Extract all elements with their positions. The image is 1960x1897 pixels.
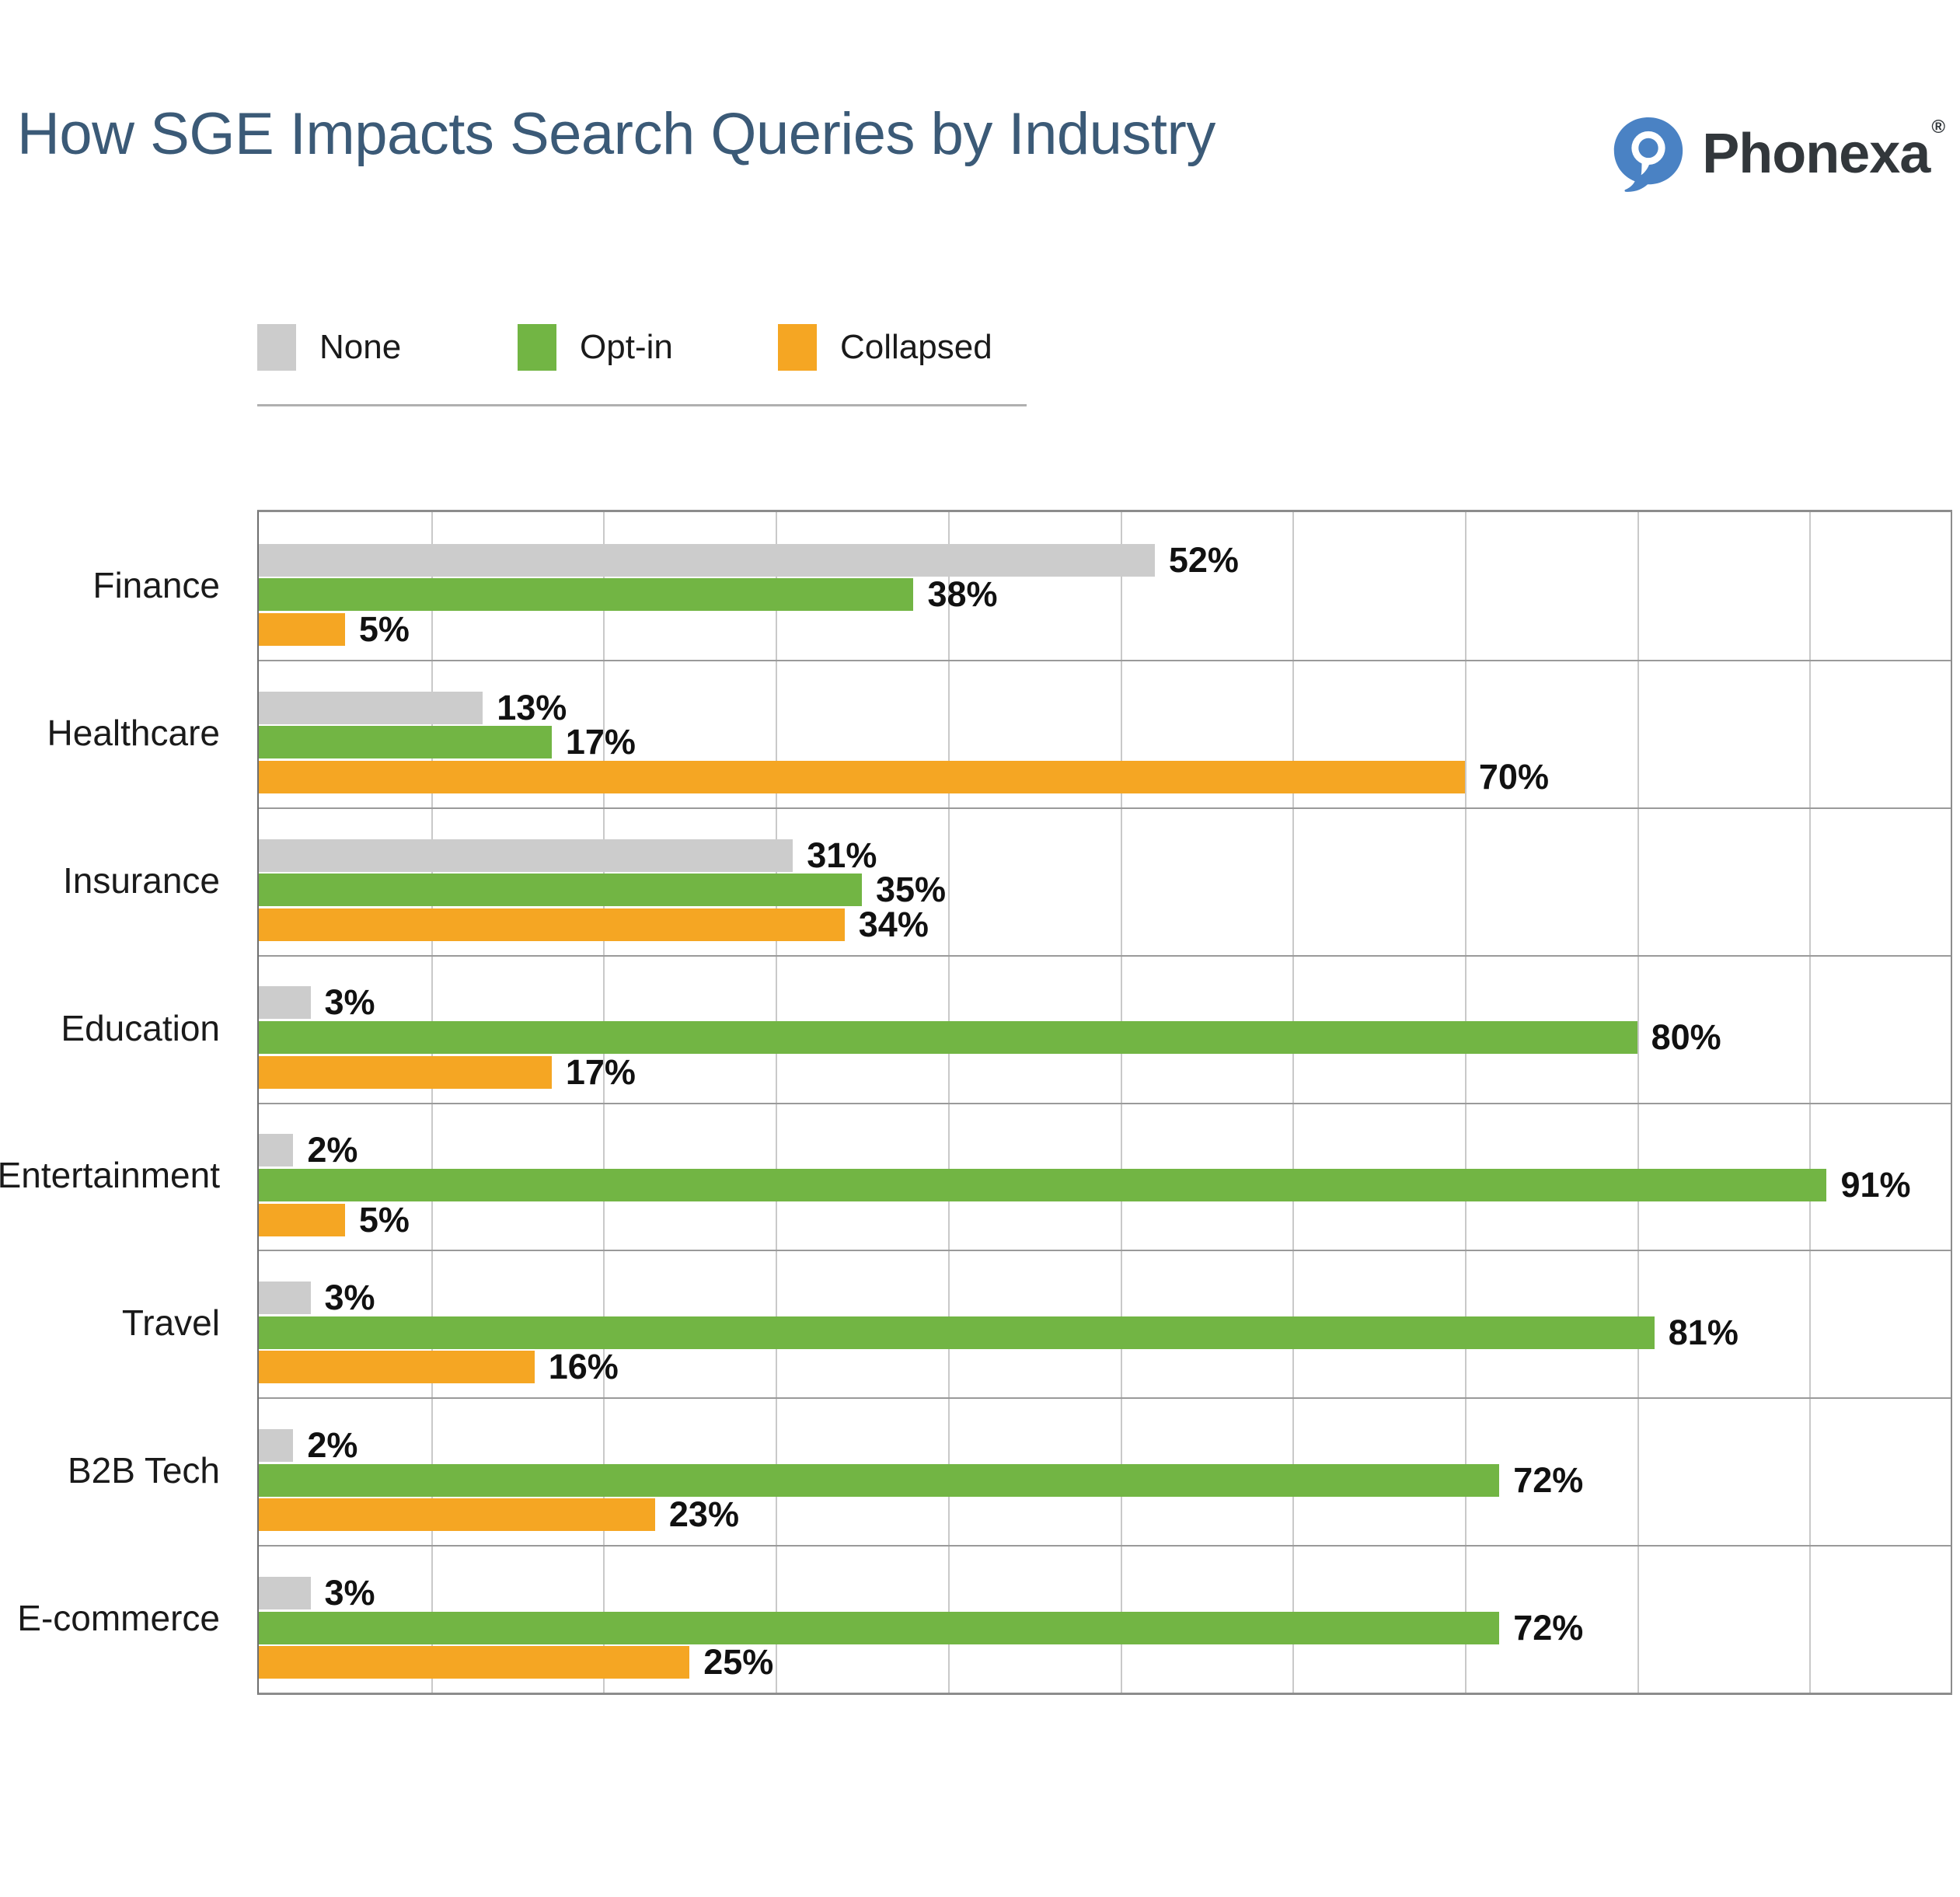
bar-collapsed[interactable] <box>259 761 1465 793</box>
legend-swatch-opt-in <box>518 324 556 371</box>
bar-none[interactable] <box>259 839 793 872</box>
legend-item-none[interactable]: None <box>257 319 401 376</box>
bar-opt-in[interactable] <box>259 874 862 906</box>
bar-value-label: 52% <box>1169 540 1239 581</box>
bar-none[interactable] <box>259 1282 311 1314</box>
bar-group: Travel3%81%16% <box>259 1250 1951 1397</box>
page-title: How SGE Impacts Search Queries by Indust… <box>17 101 1215 168</box>
y-axis-category-label: Insurance <box>63 860 220 901</box>
bar-value-label: 72% <box>1513 1608 1583 1648</box>
bar-collapsed[interactable] <box>259 613 345 646</box>
bar-group: E-commerce3%72%25% <box>259 1545 1951 1693</box>
bar-collapsed[interactable] <box>259 908 845 941</box>
bar-row: 91% <box>259 1169 1951 1201</box>
bar-opt-in[interactable] <box>259 1612 1499 1644</box>
bar-value-label: 31% <box>807 835 877 876</box>
bar-value-label: 34% <box>859 905 929 945</box>
bar-group: B2B Tech2%72%23% <box>259 1397 1951 1545</box>
bar-opt-in[interactable] <box>259 1021 1637 1054</box>
bar-row: 3% <box>259 1577 1951 1609</box>
bar-value-label: 81% <box>1669 1313 1739 1353</box>
bar-value-label: 5% <box>359 609 410 650</box>
bar-value-label: 38% <box>927 574 997 615</box>
bar-none[interactable] <box>259 1429 293 1462</box>
bar-value-label: 80% <box>1651 1017 1721 1058</box>
y-axis-category-label: E-commerce <box>17 1597 220 1639</box>
bar-chart-plot-area: Finance52%38%5%Healthcare13%17%70%Insura… <box>257 510 1952 1695</box>
legend-divider <box>257 404 1027 406</box>
legend-label-opt-in: Opt-in <box>580 328 673 367</box>
bar-value-label: 23% <box>669 1494 739 1535</box>
bar-value-label: 5% <box>359 1200 410 1240</box>
bar-row: 31% <box>259 839 1951 872</box>
bar-row: 34% <box>259 908 1951 941</box>
bar-collapsed[interactable] <box>259 1351 535 1383</box>
bar-opt-in[interactable] <box>259 1316 1655 1349</box>
bar-group: Education3%80%17% <box>259 955 1951 1103</box>
bar-row: 35% <box>259 874 1951 906</box>
y-axis-category-label: Healthcare <box>47 712 220 754</box>
legend-item-opt-in[interactable]: Opt-in <box>518 319 673 376</box>
bar-value-label: 3% <box>325 1573 375 1613</box>
bar-row: 70% <box>259 761 1951 793</box>
brand-name: Phonexa® <box>1702 122 1943 186</box>
bar-row: 72% <box>259 1464 1951 1497</box>
bar-value-label: 70% <box>1479 757 1549 797</box>
bar-group: Entertainment2%91%5% <box>259 1103 1951 1250</box>
bar-group: Insurance31%35%34% <box>259 807 1951 955</box>
bar-row: 17% <box>259 726 1951 758</box>
bar-value-label: 3% <box>325 1278 375 1318</box>
bar-row: 2% <box>259 1134 1951 1166</box>
bar-value-label: 2% <box>307 1130 357 1170</box>
y-axis-category-label: B2B Tech <box>68 1449 220 1491</box>
bar-row: 72% <box>259 1612 1951 1644</box>
legend-label-collapsed: Collapsed <box>840 328 992 367</box>
bar-row: 13% <box>259 692 1951 724</box>
legend-item-collapsed[interactable]: Collapsed <box>778 319 992 376</box>
bar-value-label: 2% <box>307 1425 357 1466</box>
bar-value-label: 13% <box>497 688 567 728</box>
bar-opt-in[interactable] <box>259 578 913 611</box>
chart-legend: None Opt-in Collapsed <box>257 319 1027 420</box>
y-axis-category-label: Entertainment <box>0 1154 220 1196</box>
bar-none[interactable] <box>259 1134 293 1166</box>
bar-row: 25% <box>259 1646 1951 1679</box>
bar-value-label: 16% <box>549 1347 619 1387</box>
bar-row: 5% <box>259 1204 1951 1236</box>
bar-value-label: 17% <box>566 1052 636 1093</box>
bar-row: 23% <box>259 1498 1951 1531</box>
chart-header: How SGE Impacts Search Queries by Indust… <box>0 0 1960 233</box>
bar-row: 80% <box>259 1021 1951 1054</box>
bar-opt-in[interactable] <box>259 1169 1826 1201</box>
bar-row: 2% <box>259 1429 1951 1462</box>
bar-collapsed[interactable] <box>259 1056 552 1089</box>
bar-group: Finance52%38%5% <box>259 512 1951 660</box>
bar-collapsed[interactable] <box>259 1646 689 1679</box>
bar-value-label: 25% <box>703 1642 773 1683</box>
bar-group: Healthcare13%17%70% <box>259 660 1951 807</box>
bar-opt-in[interactable] <box>259 726 552 758</box>
bar-row: 5% <box>259 613 1951 646</box>
bar-row: 16% <box>259 1351 1951 1383</box>
bar-row: 3% <box>259 1282 1951 1314</box>
y-axis-category-label: Travel <box>122 1302 220 1344</box>
bar-row: 17% <box>259 1056 1951 1089</box>
bar-none[interactable] <box>259 986 311 1019</box>
legend-label-none: None <box>319 328 401 367</box>
registered-trademark-mark: ® <box>1931 117 1944 138</box>
bar-collapsed[interactable] <box>259 1498 655 1531</box>
phonexa-speech-bubble-logo-icon <box>1612 115 1685 193</box>
y-axis-category-label: Finance <box>92 564 220 606</box>
brand-logo: Phonexa® <box>1612 115 1943 193</box>
bar-value-label: 91% <box>1840 1165 1910 1205</box>
bar-value-label: 3% <box>325 982 375 1023</box>
bar-row: 3% <box>259 986 1951 1019</box>
y-axis-category-label: Education <box>61 1007 220 1049</box>
bar-row: 38% <box>259 578 1951 611</box>
bar-none[interactable] <box>259 692 483 724</box>
bar-collapsed[interactable] <box>259 1204 345 1236</box>
bar-value-label: 72% <box>1513 1460 1583 1501</box>
bar-none[interactable] <box>259 1577 311 1609</box>
legend-swatch-none <box>257 324 296 371</box>
bar-value-label: 17% <box>566 722 636 762</box>
brand-name-text: Phonexa <box>1702 123 1930 185</box>
bar-row: 81% <box>259 1316 1951 1349</box>
legend-swatch-collapsed <box>778 324 817 371</box>
bar-none[interactable] <box>259 544 1155 577</box>
bar-opt-in[interactable] <box>259 1464 1499 1497</box>
bar-row: 52% <box>259 544 1951 577</box>
